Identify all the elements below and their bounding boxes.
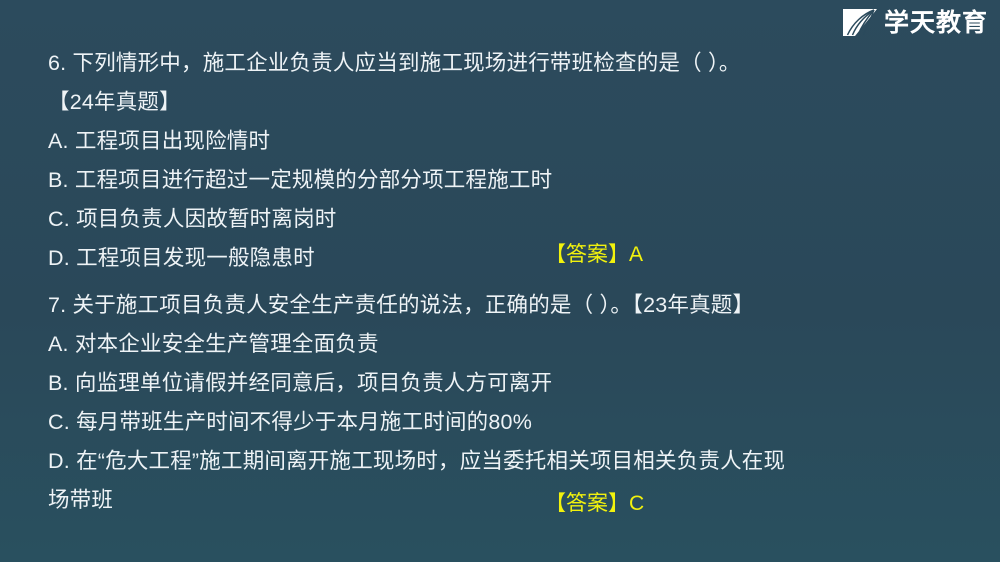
question-7-answer-label: 【答案】 bbox=[545, 492, 629, 515]
question-7-option-b[interactable]: B. 向监理单位请假并经同意后，项目负责人方可离开 bbox=[48, 364, 966, 403]
question-6-answer: 【答案】A bbox=[545, 238, 644, 268]
question-7-option-d[interactable]: D. 在“危大工程”施工期间离开施工现场时，应当委托相关项目相关负责人在现 bbox=[48, 442, 966, 481]
question-7-stem: 7. 关于施工项目负责人安全生产责任的说法，正确的是（ ）。【23年真题】 bbox=[48, 286, 966, 325]
question-6-option-b[interactable]: B. 工程项目进行超过一定规模的分部分项工程施工时 bbox=[48, 161, 966, 200]
question-7-option-d-wrap: 场带班 bbox=[48, 481, 966, 520]
question-7-answer-value: C bbox=[629, 492, 645, 515]
question-6-answer-value: A bbox=[629, 243, 644, 266]
road-lines-icon bbox=[843, 9, 877, 36]
slide-canvas: 学天教育 6. 下列情形中，施工企业负责人应当到施工现场进行带班检查的是（ ）。… bbox=[0, 0, 1000, 562]
question-content: 6. 下列情形中，施工企业负责人应当到施工现场进行带班检查的是（ ）。 【24年… bbox=[48, 44, 966, 520]
question-6-option-a[interactable]: A. 工程项目出现险情时 bbox=[48, 122, 966, 161]
question-7-answer: 【答案】C bbox=[545, 487, 645, 517]
question-7-option-c[interactable]: C. 每月带班生产时间不得少于本月施工时间的80% bbox=[48, 403, 966, 442]
question-6-source-tag: 【24年真题】 bbox=[48, 83, 966, 122]
question-6-stem: 6. 下列情形中，施工企业负责人应当到施工现场进行带班检查的是（ ）。 bbox=[48, 44, 966, 83]
brand-logo: 学天教育 bbox=[843, 6, 988, 38]
question-6-option-c[interactable]: C. 项目负责人因故暂时离岗时 bbox=[48, 200, 966, 239]
brand-name: 学天教育 bbox=[884, 10, 988, 35]
question-6-option-d[interactable]: D. 工程项目发现一般隐患时 bbox=[48, 239, 966, 278]
question-6-answer-label: 【答案】 bbox=[545, 243, 629, 266]
question-7-option-a[interactable]: A. 对本企业安全生产管理全面负责 bbox=[48, 325, 966, 364]
